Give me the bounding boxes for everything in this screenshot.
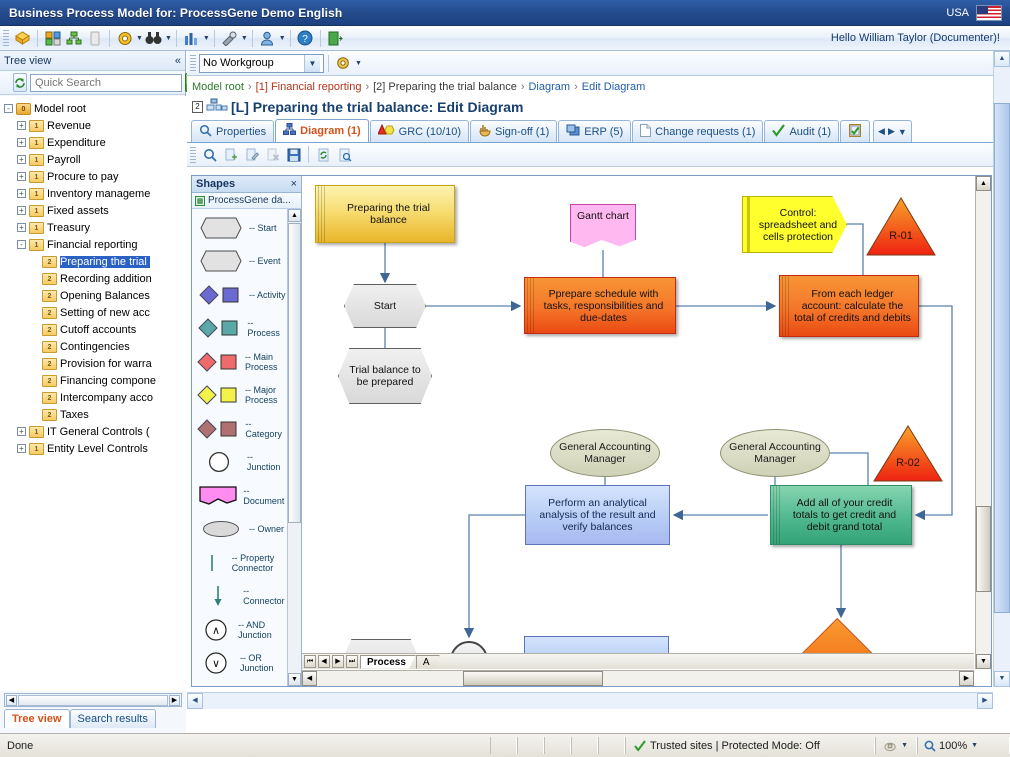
shape-item-junction[interactable]: -- Junction [192, 446, 287, 480]
breadcrumb-separator: › [248, 81, 252, 93]
tree-panel-title: Tree view [4, 55, 51, 67]
tab-clipboard-check[interactable] [840, 120, 870, 142]
shape-glyph [197, 285, 245, 305]
chevron-down-icon[interactable]: ▼ [971, 742, 978, 749]
shape-item-document[interactable]: -- Document [192, 479, 287, 513]
zoom-icon [924, 740, 936, 752]
security-zone[interactable]: Trusted sites | Protected Mode: Off [625, 737, 875, 754]
signoff-hand-icon [478, 124, 491, 140]
chevron-down-icon[interactable]: ▼ [241, 35, 248, 42]
preview-icon[interactable] [334, 145, 355, 165]
workgroup-select[interactable]: No Workgroup ▼ [199, 54, 324, 73]
breadcrumb-link[interactable]: [2] Preparing the trial balance [373, 81, 517, 93]
tab-erp-5[interactable]: ERP (5) [558, 120, 631, 142]
clipboard-check-icon [848, 123, 862, 140]
breadcrumb: Model root›[1] Financial reporting›[2] P… [187, 76, 1010, 96]
refresh-icon[interactable] [13, 73, 27, 92]
tree-item-label: Opening Balances [60, 290, 150, 302]
tab-label: Properties [216, 126, 266, 138]
diagram-canvas[interactable]: Preparing the trial balanceStartTrial ba… [302, 176, 974, 669]
scroll-down-icon[interactable]: ▼ [288, 673, 301, 686]
shape-label: -- Main Process [245, 352, 287, 372]
folder-icon: 2 [42, 307, 57, 319]
node-add-credit-totals[interactable]: Add all of your credit totals to get cre… [770, 485, 912, 545]
node-label: Trial balance to be prepared [344, 364, 426, 388]
expand-icon[interactable]: + [17, 206, 26, 215]
tree-search-row: ➜ [0, 71, 185, 95]
status-text: Done [0, 740, 490, 752]
scroll-right-icon[interactable]: ▶ [959, 671, 974, 686]
shape-label: -- OR Junction [240, 653, 287, 673]
workgroup-bar: No Workgroup ▼ ▼ [187, 51, 1010, 76]
tree-item-label: Financing compone [60, 375, 156, 387]
matrix-icon[interactable] [42, 28, 63, 48]
tab-label: Audit (1) [789, 126, 831, 138]
node-shape: Perform an analytical analysis of the re… [525, 485, 670, 545]
tree-item-label: Cutoff accounts [60, 324, 136, 336]
stencil-label: ProcessGene da... [208, 195, 291, 206]
shape-item-owner[interactable]: -- Owner [192, 513, 287, 547]
node-label: R-01 [865, 230, 937, 242]
tab-diagram-1[interactable]: Diagram (1) [275, 119, 369, 142]
canvas-page-tabs: ⏮ ◀ ▶ ⏭ ProcessA [302, 653, 974, 669]
model-icon[interactable] [12, 28, 33, 48]
shape-label: -- Event [249, 256, 281, 266]
zoom-icon[interactable] [199, 145, 220, 165]
status-cell [490, 737, 517, 754]
tab-change-requests-1[interactable]: Change requests (1) [632, 120, 763, 142]
node-label: From each ledger account: calculate the … [792, 288, 913, 324]
chevron-down-icon[interactable]: ▼ [304, 55, 320, 72]
window-title: Business Process Model for: ProcessGene … [0, 6, 946, 20]
add-page-icon[interactable] [220, 145, 241, 165]
tab-label: Change requests (1) [655, 126, 755, 138]
scroll-down-icon[interactable]: ▼ [976, 654, 991, 669]
shape-label: -- Process [247, 318, 287, 338]
shape-item-process[interactable]: -- Process [192, 312, 287, 346]
shape-glyph [197, 419, 241, 439]
scroll-thumb[interactable] [18, 695, 168, 706]
folder-icon: 2 [42, 409, 57, 421]
breadcrumb-link[interactable]: Model root [192, 81, 244, 93]
tree-item[interactable]: +1Treasury [4, 219, 186, 236]
folder-icon: 2 [42, 392, 57, 404]
scroll-left-icon[interactable]: ◀ [302, 671, 317, 686]
status-cell [571, 737, 598, 754]
edit-page-icon[interactable] [241, 145, 262, 165]
shapes-panel: Shapes × ▦ ProcessGene da... -- Start-- … [192, 176, 302, 686]
stencil-item[interactable]: ▦ ProcessGene da... [192, 193, 301, 209]
tab-label: Sign-off (1) [495, 126, 549, 138]
node-label: Preparing the trial balance [328, 202, 449, 226]
chevron-down-icon[interactable]: ▼ [203, 35, 210, 42]
tab-audit-1[interactable]: Audit (1) [764, 120, 839, 142]
scroll-thumb[interactable] [288, 223, 301, 523]
tree-item[interactable]: +1Entity Level Controls [4, 440, 186, 457]
folder-icon: 1 [29, 120, 44, 132]
shape-label: -- Junction [247, 452, 287, 472]
tree-footer: ◀ ▶ Tree viewSearch results [0, 691, 186, 733]
shape-glyph [197, 318, 243, 338]
tree-item[interactable]: +1Expenditure [4, 134, 186, 151]
shape-glyph: ∧ [197, 618, 234, 642]
node-shape: Add all of your credit totals to get cre… [770, 485, 912, 545]
scroll-thumb[interactable] [463, 671, 603, 686]
tree-item-label: Fixed assets [47, 205, 109, 217]
breadcrumb-link[interactable]: Edit Diagram [582, 81, 646, 93]
expand-icon[interactable]: + [17, 189, 26, 198]
folder-icon: 1 [29, 154, 44, 166]
toolbar-separator [308, 146, 309, 163]
node-shape: Gantt chart [570, 204, 636, 250]
scroll-up-icon[interactable]: ▲ [976, 176, 991, 191]
chevron-down-icon[interactable]: ▼ [279, 35, 286, 42]
canvas-area: Preparing the trial balanceStartTrial ba… [302, 176, 991, 686]
search-input[interactable] [30, 74, 182, 92]
tree-item[interactable]: -0Model root [4, 100, 186, 117]
content-area: No Workgroup ▼ ▼ Model root›[1] Financia… [187, 51, 1010, 733]
tree-horizontal-scrollbar[interactable]: ◀ ▶ [4, 693, 182, 707]
page-prev-icon[interactable]: ◀ [318, 655, 330, 668]
shape-glyph [197, 486, 239, 506]
scroll-left-icon[interactable]: ◀ [187, 693, 203, 709]
status-cell [517, 737, 544, 754]
scroll-up-icon[interactable]: ▲ [994, 51, 1010, 67]
tab-prev-icon[interactable]: ◀ [878, 126, 885, 137]
folder-icon: 1 [29, 188, 44, 200]
toolbar-separator [176, 30, 177, 47]
tree-item[interactable]: +1Inventory manageme [4, 185, 186, 202]
page-first-icon[interactable]: ⏮ [304, 655, 316, 668]
node-shape: Trial balance to be prepared [338, 348, 432, 404]
scroll-right-icon[interactable]: ▶ [169, 695, 180, 706]
page-vertical-scrollbar[interactable]: ▲ ▼ [993, 51, 1010, 687]
tree-item-label: Setting of new acc [60, 307, 150, 319]
node-prepare-schedule[interactable]: Pprepare schedule with tasks, responsibi… [524, 277, 676, 334]
shape-glyph [197, 552, 228, 574]
shape-item-category[interactable]: -- Category [192, 412, 287, 446]
collapse-icon[interactable]: - [4, 104, 13, 113]
node-perform-analytical-analysis[interactable]: Perform an analytical analysis of the re… [525, 485, 670, 545]
folder-icon: 2 [42, 324, 57, 336]
shape-glyph [197, 451, 243, 473]
shape-label: -- Connector [243, 586, 287, 606]
save-icon[interactable] [283, 145, 304, 165]
erp-icon [566, 124, 580, 140]
shapes-panel-title: Shapes [196, 178, 235, 190]
shape-glyph [197, 520, 245, 538]
page-horizontal-scrollbar[interactable]: ◀ ▶ [187, 692, 993, 709]
delete-page-icon [262, 145, 283, 165]
folder-icon: 1 [29, 222, 44, 234]
tree-item[interactable]: +1Procure to pay [4, 168, 186, 185]
scroll-up-icon[interactable]: ▲ [288, 209, 301, 222]
folder-icon: 1 [29, 171, 44, 183]
shapes-list[interactable]: -- Start-- Event-- Activity-- Process-- … [192, 209, 301, 686]
tree-list[interactable]: -0Model root+1Revenue+1Expenditure+1Payr… [0, 96, 186, 691]
diagram-icon [283, 123, 296, 139]
breadcrumb-link[interactable]: Diagram [528, 81, 570, 93]
node-control-spreadsheet[interactable]: Control: spreadsheet and cells protectio… [742, 196, 847, 253]
chevron-down-icon[interactable]: ▼ [901, 742, 908, 749]
tree-item[interactable]: 2Taxes [4, 406, 186, 423]
tree-panel: Tree view « ➜ -0Model root+1Revenue+1Exp… [0, 51, 186, 733]
folder-icon: 1 [29, 443, 44, 455]
node-label: Pprepare schedule with tasks, responsibi… [537, 288, 670, 324]
node-shape: Pprepare schedule with tasks, responsibi… [524, 277, 676, 334]
stencil-icon: ▦ [195, 196, 205, 206]
tree-item-label: Intercompany acco [60, 392, 153, 404]
refresh-icon[interactable] [313, 145, 334, 165]
shape-glyph [197, 385, 241, 405]
collapse-panel-icon[interactable]: « [175, 55, 181, 67]
toolbar-separator [320, 30, 321, 47]
canvas-page-tab[interactable]: Process [360, 655, 416, 669]
expand-icon[interactable]: + [17, 155, 26, 164]
status-bar: Done Trusted sites | Protected Mode: Off… [0, 733, 1010, 757]
canvas-vertical-scrollbar[interactable]: ▲ ▼ [975, 176, 991, 669]
page-next-icon[interactable]: ▶ [332, 655, 344, 668]
tree-item-label: Inventory manageme [47, 188, 150, 200]
canvas-horizontal-scrollbar[interactable]: ◀ ▶ [302, 670, 974, 686]
scroll-right-icon[interactable]: ▶ [977, 693, 993, 709]
tree-item-label: Treasury [47, 222, 90, 234]
tree-item-label: Taxes [60, 409, 89, 421]
expand-icon[interactable]: + [17, 427, 26, 436]
folder-icon: 2 [42, 341, 57, 353]
folder-icon: 0 [16, 103, 31, 115]
tree-item[interactable]: 2Cutoff accounts [4, 321, 186, 338]
check-icon [772, 124, 785, 140]
node-label: Start [374, 300, 396, 312]
shape-item-start[interactable]: -- Start [192, 211, 287, 245]
workgroup-value: No Workgroup [203, 57, 274, 69]
expand-icon[interactable]: + [17, 223, 26, 232]
folder-icon: 1 [29, 205, 44, 217]
tools-icon[interactable] [219, 28, 240, 48]
shapes-panel-header: Shapes × [192, 176, 301, 193]
tab-label: GRC (10/10) [399, 126, 461, 138]
collapse-icon[interactable]: - [17, 240, 26, 249]
tree-item[interactable]: +1Payroll [4, 151, 186, 168]
exit-icon[interactable] [325, 28, 346, 48]
expand-icon[interactable]: + [17, 444, 26, 453]
tree-item-label: Provision for warra [60, 358, 152, 370]
node-shape: Preparing the trial balance [315, 185, 455, 243]
shape-label: -- Start [249, 223, 277, 233]
node-preparing-the-trial-balance[interactable]: Preparing the trial balance [315, 185, 455, 243]
node-label: General Accounting Manager [550, 429, 660, 477]
chevron-down-icon[interactable]: ▼ [165, 35, 172, 42]
tree-item-label: Procure to pay [47, 171, 119, 183]
shape-label: -- Document [243, 486, 287, 506]
shape-item-property-connector[interactable]: -- Property Connector [192, 546, 287, 580]
tree-item[interactable]: 2Intercompany acco [4, 389, 186, 406]
shape-label: -- Owner [249, 524, 284, 534]
settings-icon[interactable] [114, 28, 135, 48]
expand-icon[interactable]: + [17, 121, 26, 130]
user-greeting: Hello William Taylor (Documenter)! [831, 32, 1010, 44]
node-label: R-02 [872, 457, 944, 469]
tab-sign-off-1[interactable]: Sign-off (1) [470, 120, 557, 142]
shape-item-or-junction[interactable]: ∨-- OR Junction [192, 647, 287, 681]
shape-glyph: xor [197, 685, 234, 686]
status-cell [598, 737, 625, 754]
breadcrumb-link[interactable]: [1] Financial reporting [256, 81, 362, 93]
shape-glyph [197, 352, 241, 372]
expand-icon[interactable]: + [17, 138, 26, 147]
folder-icon: 1 [29, 239, 44, 251]
toolbar-grip [3, 30, 9, 46]
tree-tab[interactable]: Search results [70, 709, 156, 728]
shape-glyph [197, 217, 245, 239]
tab-next-icon[interactable]: ▶ [888, 126, 895, 137]
node-label: Gantt chart [577, 210, 629, 222]
user-icon[interactable] [257, 28, 278, 48]
tab-scroll-nav[interactable]: ◀▶▼ [873, 120, 912, 142]
tree-item-label: Entity Level Controls [47, 443, 148, 455]
magnifier-icon [199, 124, 212, 140]
toolbar-separator [252, 30, 253, 47]
tab-menu-icon[interactable]: ▼ [898, 127, 907, 137]
tree-item[interactable]: -1Financial reporting [4, 236, 186, 253]
node-gantt-chart[interactable]: Gantt chart [570, 204, 636, 250]
toolbar-separator [214, 30, 215, 47]
tab-bar: PropertiesDiagram (1)GRC (10/10)Sign-off… [187, 118, 1010, 143]
org-chart-icon[interactable] [63, 28, 84, 48]
tree-item[interactable]: 2Recording addition [4, 270, 186, 287]
us-flag-icon [976, 5, 1002, 21]
zoom-control[interactable]: 100% ▼ [917, 737, 1010, 754]
diagram-icon [206, 97, 228, 116]
diagram-editor: Shapes × ▦ ProcessGene da... -- Start-- … [191, 175, 992, 687]
folder-icon: 2 [42, 375, 57, 387]
node-label: Perform an analytical analysis of the re… [531, 497, 664, 533]
node-owner-general-accounting-manager-2[interactable]: General Accounting Manager [720, 429, 830, 477]
workgroup-settings-icon[interactable] [333, 53, 354, 73]
folder-icon: 2 [42, 273, 57, 285]
tree-item[interactable]: 2Setting of new acc [4, 304, 186, 321]
node-shape: Start [344, 284, 426, 328]
reports-icon[interactable] [181, 28, 202, 48]
status-cell [544, 737, 571, 754]
tree-item[interactable]: 2Provision for warra [4, 355, 186, 372]
tree-item-label: Model root [34, 103, 86, 115]
tree-item[interactable]: 2Opening Balances [4, 287, 186, 304]
node-shape: From each ledger account: calculate the … [779, 275, 919, 337]
shape-label: -- Activity [249, 290, 286, 300]
close-icon[interactable]: × [291, 178, 297, 190]
node-risk-r01[interactable]: R-01 [865, 196, 937, 258]
breadcrumb-separator: › [574, 81, 578, 93]
node-risk-r02[interactable]: R-02 [872, 424, 944, 484]
tree-item[interactable]: 2Contingencies [4, 338, 186, 355]
paste-icon [84, 28, 105, 48]
locale-label: USA [946, 7, 976, 19]
node-from-each-ledger-account[interactable]: From each ledger account: calculate the … [779, 275, 919, 337]
tree-item[interactable]: +1IT General Controls ( [4, 423, 186, 440]
search-binoculars-icon[interactable] [143, 28, 164, 48]
shape-item-main-process[interactable]: -- Main Process [192, 345, 287, 379]
tree-item-label: Financial reporting [47, 239, 138, 251]
shape-item-activity[interactable]: -- Activity [192, 278, 287, 312]
node-start[interactable]: Start [344, 284, 426, 328]
tree-item-label: Revenue [47, 120, 91, 132]
node-label: Add all of your credit totals to get cre… [783, 497, 906, 533]
scroll-thumb[interactable] [994, 103, 1010, 613]
tree-item-label: Contingencies [60, 341, 130, 353]
diagram-toolbar-grip [190, 147, 196, 163]
shape-label: -- AND Junction [238, 620, 287, 640]
node-owner-general-accounting-manager-1[interactable]: General Accounting Manager [550, 429, 660, 477]
shape-item-event[interactable]: -- Event [192, 245, 287, 279]
tree-item-label: Payroll [47, 154, 81, 166]
shape-label: -- Property Connector [232, 553, 287, 573]
shape-glyph [197, 584, 239, 608]
main-toolbar: ▼ ▼ ▼ ▼ ▼ ? Hello William Taylor (Docume… [0, 26, 1010, 51]
privacy-icon[interactable]: ▼ [875, 737, 917, 754]
node-trial-balance-to-be-prepared[interactable]: Trial balance to be prepared [338, 348, 432, 404]
shape-item-major-process[interactable]: -- Major Process [192, 379, 287, 413]
breadcrumb-separator: › [521, 81, 525, 93]
document-icon [640, 124, 651, 140]
node-shape: Control: spreadsheet and cells protectio… [742, 196, 847, 253]
toolbar-separator [37, 30, 38, 47]
folder-icon: 2 [42, 256, 57, 268]
page-last-icon[interactable]: ⏭ [346, 655, 358, 668]
shapes-scrollbar[interactable]: ▲ ▼ [287, 209, 301, 686]
shape-item-and-junction[interactable]: ∧-- AND Junction [192, 613, 287, 647]
node-label: General Accounting Manager [720, 429, 830, 477]
scroll-left-icon[interactable]: ◀ [6, 695, 17, 706]
grc-icon [378, 124, 395, 140]
scroll-down-icon[interactable]: ▼ [994, 671, 1010, 687]
application-window: Business Process Model for: ProcessGene … [0, 0, 1010, 757]
tab-properties[interactable]: Properties [191, 120, 274, 142]
tree-item-label: IT General Controls ( [47, 426, 150, 438]
level-badge: 2 [192, 101, 203, 113]
tab-label: Diagram (1) [300, 125, 361, 137]
tree-item[interactable]: +1Revenue [4, 117, 186, 134]
page-title: [L] Preparing the trial balance: Edit Di… [231, 99, 524, 115]
help-icon[interactable]: ? [295, 28, 316, 48]
expand-icon[interactable]: + [17, 172, 26, 181]
tree-item[interactable]: 2Preparing the trial [4, 253, 186, 270]
diagram-toolbar [187, 143, 1010, 167]
shape-glyph [197, 250, 245, 272]
shape-item-xor-junction[interactable]: xor-- XOR Junction [192, 680, 287, 686]
svg-text:∧: ∧ [212, 625, 220, 637]
tab-grc-10-10[interactable]: GRC (10/10) [370, 120, 469, 142]
folder-icon: 1 [29, 137, 44, 149]
folder-icon: 1 [29, 426, 44, 438]
tree-item[interactable]: 2Financing compone [4, 372, 186, 389]
chevron-down-icon[interactable]: ▼ [136, 35, 143, 42]
toolbar-separator [109, 30, 110, 47]
chevron-down-icon[interactable]: ▼ [355, 60, 362, 67]
scroll-thumb[interactable] [976, 506, 991, 592]
folder-icon: 2 [42, 290, 57, 302]
canvas-page-tab[interactable]: A [416, 655, 440, 669]
tree-tab[interactable]: Tree view [4, 709, 70, 728]
shape-item-connector[interactable]: -- Connector [192, 580, 287, 614]
breadcrumb-separator: › [365, 81, 369, 93]
toolbar-separator [328, 55, 329, 72]
tree-panel-header: Tree view « [0, 51, 185, 71]
tree-item[interactable]: +1Fixed assets [4, 202, 186, 219]
zoom-level: 100% [939, 740, 967, 752]
shape-label: -- Category [245, 419, 287, 439]
